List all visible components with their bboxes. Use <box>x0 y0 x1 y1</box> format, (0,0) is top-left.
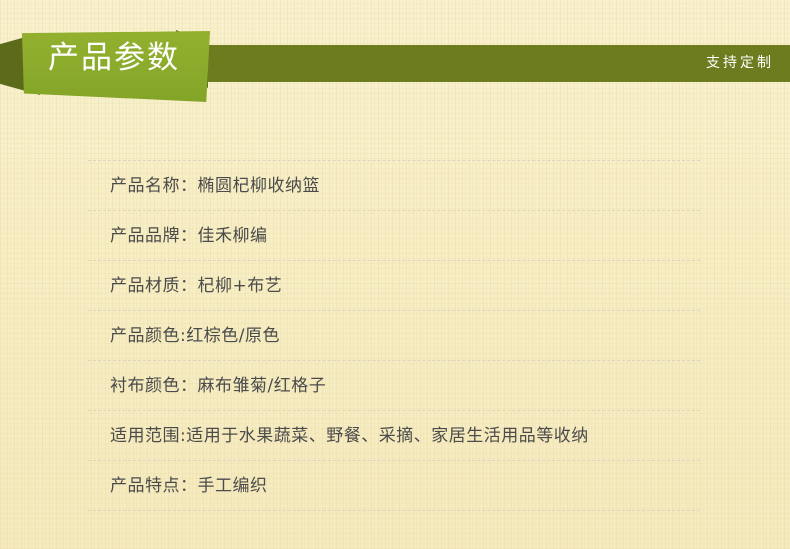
table-row: 产品材质：杞柳+布艺 <box>88 260 700 310</box>
spec-table: 产品名称：椭圆杞柳收纳篮 产品品牌：佳禾柳编 产品材质：杞柳+布艺 产品颜色:红… <box>88 160 700 511</box>
table-row: 产品颜色:红棕色/原色 <box>88 310 700 360</box>
page-title: 产品参数 <box>48 38 180 78</box>
table-row: 衬布颜色：麻布雏菊/红格子 <box>88 360 700 410</box>
table-row: 产品品牌：佳禾柳编 <box>88 210 700 260</box>
spec-text: 产品名称：椭圆杞柳收纳篮 <box>88 174 320 198</box>
spec-text: 衬布颜色：麻布雏菊/红格子 <box>88 374 326 398</box>
spec-text: 产品材质：杞柳+布艺 <box>88 274 282 298</box>
spec-text: 产品特点：手工编织 <box>88 474 268 498</box>
spec-text: 产品颜色:红棕色/原色 <box>88 324 280 348</box>
page-header: 产品参数 支持定制 <box>0 0 790 120</box>
table-row: 产品名称：椭圆杞柳收纳篮 <box>88 160 700 210</box>
spec-text: 产品品牌：佳禾柳编 <box>88 224 268 248</box>
table-row: 适用范围:适用于水果蔬菜、野餐、采摘、家居生活用品等收纳 <box>88 410 700 460</box>
product-parameters-page: 产品参数 支持定制 产品名称：椭圆杞柳收纳篮 产品品牌：佳禾柳编 产品材质：杞柳… <box>0 0 790 549</box>
spec-text: 适用范围:适用于水果蔬菜、野餐、采摘、家居生活用品等收纳 <box>88 424 589 448</box>
table-row: 产品特点：手工编织 <box>88 460 700 511</box>
header-note: 支持定制 <box>706 53 774 73</box>
